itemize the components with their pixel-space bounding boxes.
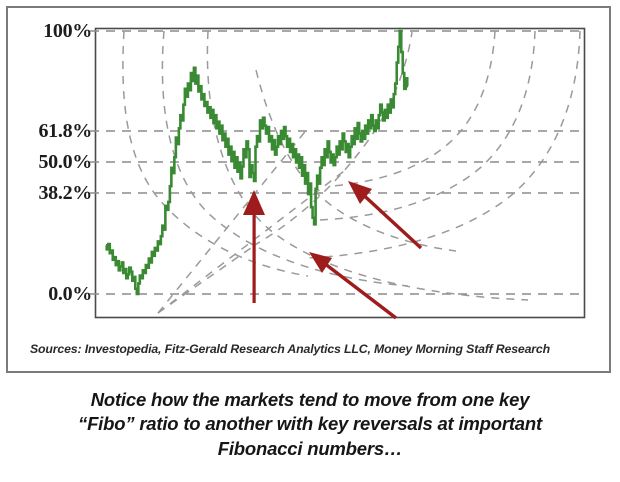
sources-note: Sources: Investopedia, Fitz-Gerald Resea… (30, 342, 550, 356)
chart-frame: 100% 61.8% 50.0% 38.2% 0.0% (6, 6, 611, 373)
caption-line-2: “Fibo” ratio to another with key reversa… (0, 412, 620, 436)
caption-line-1: Notice how the markets tend to move from… (0, 388, 620, 412)
price-chart-svg (8, 8, 609, 334)
plot-area-wrapper: 100% 61.8% 50.0% 38.2% 0.0% (8, 8, 609, 334)
figure-caption: Notice how the markets tend to move from… (0, 388, 620, 461)
caption-line-3: Fibonacci numbers… (0, 437, 620, 461)
fibonacci-chart-figure: 100% 61.8% 50.0% 38.2% 0.0% (0, 0, 620, 482)
